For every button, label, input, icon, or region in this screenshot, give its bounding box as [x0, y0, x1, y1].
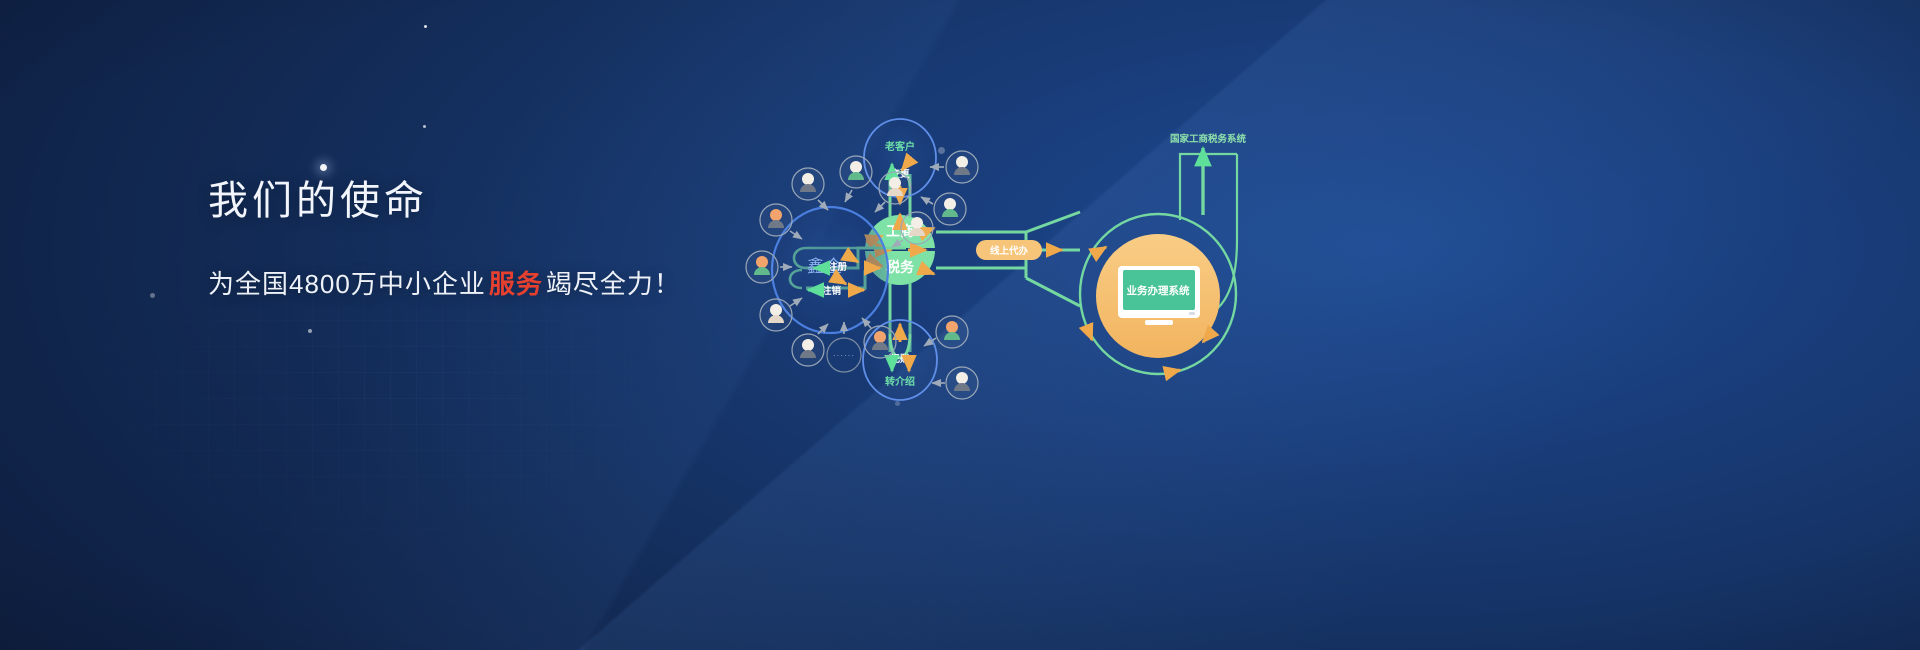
avatar — [760, 299, 792, 331]
node-more-circle: ······ — [827, 338, 861, 372]
avatar — [864, 326, 896, 358]
node-label-more: ······ — [833, 351, 855, 360]
subtitle-post: 竭尽全力！ — [546, 269, 681, 299]
avatar — [840, 156, 872, 188]
subtitle-pre: 为全国4800万中小企业 — [208, 269, 486, 299]
node-label-online-agency: 线上代办 — [990, 245, 1029, 257]
avatar — [746, 251, 778, 283]
avatar — [792, 334, 824, 366]
hero-banner: 我们的使命 为全国4800万中小企业服务竭尽全力！ — [0, 0, 1920, 650]
node-label-deregister: 注销 — [822, 285, 842, 297]
node-label-tax: 税务 — [886, 259, 915, 275]
node-label-business-system: 业务办理系统 — [1127, 284, 1190, 297]
node-label-register: 注册 — [828, 261, 848, 273]
subtitle-highlight: 服务 — [486, 269, 546, 299]
avatar — [792, 168, 824, 200]
avatar — [760, 204, 792, 236]
node-label-old-customer: 老客户 — [884, 140, 915, 153]
avatar — [879, 172, 911, 204]
avatar — [946, 151, 978, 183]
avatar — [936, 316, 968, 348]
node-label-referral: 转介绍 — [885, 375, 915, 388]
diagram-title-national-system: 国家工商税务系统 — [1170, 133, 1247, 145]
avatar — [901, 212, 933, 244]
avatar — [934, 193, 966, 225]
avatar — [946, 367, 978, 399]
service-flow-diagram: 业务办理系统 国家工商税务系统 线上代办 — [740, 120, 1260, 420]
